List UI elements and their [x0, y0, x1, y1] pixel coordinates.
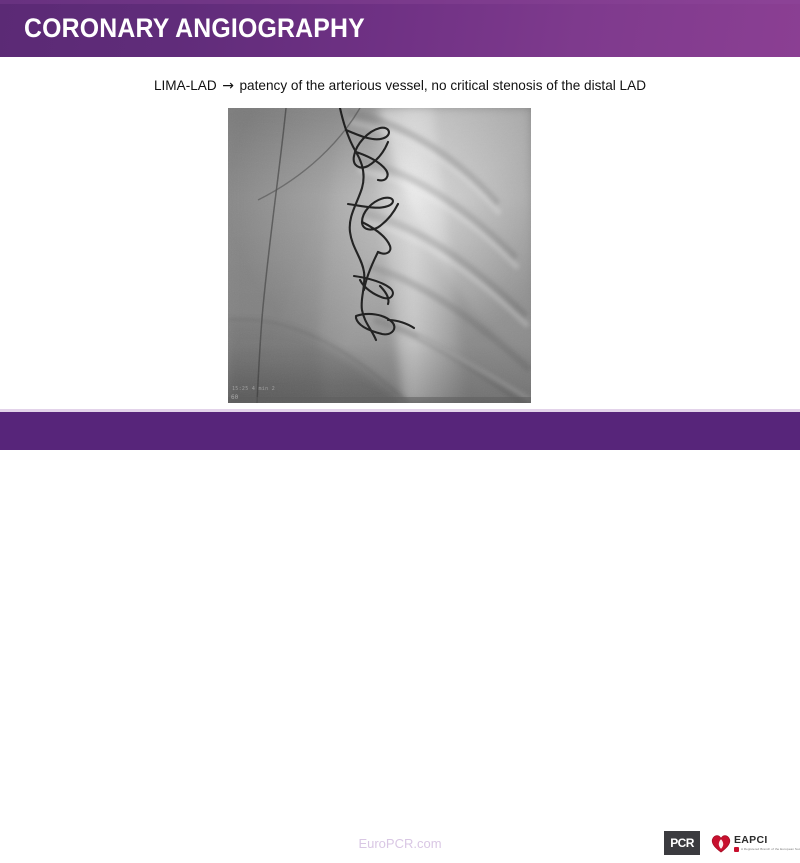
eapci-name: EAPCI	[734, 835, 800, 846]
caption-text: patency of the arterious vessel, no crit…	[240, 78, 647, 93]
esc-mark-icon	[734, 847, 739, 852]
caption-lead: LIMA-LAD	[154, 78, 217, 93]
eapci-text-block: EAPCI A Registered Branch of the Europea…	[734, 835, 800, 852]
heart-icon	[711, 834, 731, 853]
eapci-subtitle: A Registered Branch of the European Soci…	[741, 847, 800, 851]
pcr-badge: PCR	[664, 831, 700, 855]
header-sheen	[0, 0, 800, 4]
slide-footer-bar: 2024 euro PCR EuroPCR.com PCR EAPCI A Re…	[0, 412, 800, 450]
slide-header-bar: CORONARY ANGIOGRAPHY	[0, 0, 800, 57]
fluoroscopy-overlay-line2: 60	[231, 394, 238, 401]
fluoroscopy-overlay-line1: 15:25 4 min 2	[232, 386, 275, 393]
slide-caption: LIMA-LAD → patency of the arterious vess…	[0, 78, 800, 95]
page-title: CORONARY ANGIOGRAPHY	[24, 13, 365, 44]
arrow-right-icon: →	[220, 78, 236, 94]
eapci-badge: EAPCI A Registered Branch of the Europea…	[708, 830, 788, 856]
eapci-subtitle-row: A Registered Branch of the European Soci…	[734, 847, 800, 852]
angiography-image: 15:25 4 min 2 60	[228, 108, 531, 403]
pcr-badge-label: PCR	[670, 836, 694, 850]
fluoroscopy-graphic	[228, 108, 531, 403]
